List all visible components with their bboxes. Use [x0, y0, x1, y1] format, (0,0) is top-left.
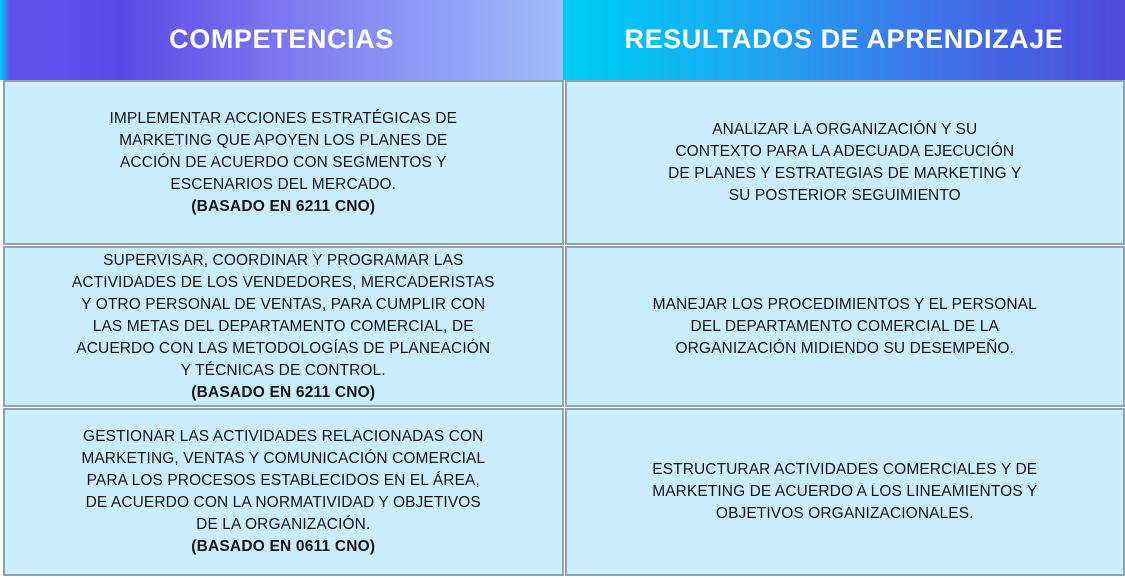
cell-resultado-1: ANALIZAR LA ORGANIZACIÓN Y SU CONTEXTO P…: [565, 80, 1125, 245]
resultado-text-3: ESTRUCTURAR ACTIVIDADES COMERCIALES Y DE…: [652, 459, 1037, 525]
cell-resultado-2: MANEJAR LOS PROCEDIMIENTOS Y EL PERSONAL…: [565, 246, 1125, 407]
header-title-competencias: COMPETENCIAS: [169, 25, 394, 55]
competencia-codigo-3: (BASADO EN 0611 CNO): [81, 536, 485, 558]
table-header-row: COMPETENCIAS RESULTADOS DE APRENDIZAJE: [0, 0, 1125, 80]
resultado-text-1: ANALIZAR LA ORGANIZACIÓN Y SU CONTEXTO P…: [668, 119, 1021, 207]
competencia-text-1: IMPLEMENTAR ACCIONES ESTRATÉGICAS DE MAR…: [109, 108, 457, 218]
header-title-resultados: RESULTADOS DE APRENDIZAJE: [624, 25, 1063, 55]
competencia-text-3: GESTIONAR LAS ACTIVIDADES RELACIONADAS C…: [81, 426, 485, 558]
cell-resultado-3: ESTRUCTURAR ACTIVIDADES COMERCIALES Y DE…: [565, 408, 1125, 576]
table-header-resultados: RESULTADOS DE APRENDIZAJE: [563, 0, 1125, 80]
competencia-body-3: GESTIONAR LAS ACTIVIDADES RELACIONADAS C…: [81, 428, 485, 533]
cell-competencia-1: IMPLEMENTAR ACCIONES ESTRATÉGICAS DE MAR…: [3, 80, 564, 245]
cell-competencia-3: GESTIONAR LAS ACTIVIDADES RELACIONADAS C…: [3, 408, 564, 576]
table-header-competencias: COMPETENCIAS: [0, 0, 563, 80]
competencia-body-2: SUPERVISAR, COORDINAR Y PROGRAMAR LAS AC…: [72, 252, 495, 379]
table-row: SUPERVISAR, COORDINAR Y PROGRAMAR LAS AC…: [3, 246, 1125, 407]
competencia-codigo-2: (BASADO EN 6211 CNO): [72, 382, 495, 404]
resultado-body-2: MANEJAR LOS PROCEDIMIENTOS Y EL PERSONAL…: [653, 296, 1037, 357]
resultado-text-2: MANEJAR LOS PROCEDIMIENTOS Y EL PERSONAL…: [653, 294, 1037, 360]
table-body: IMPLEMENTAR ACCIONES ESTRATÉGICAS DE MAR…: [0, 80, 1125, 578]
competencia-text-2: SUPERVISAR, COORDINAR Y PROGRAMAR LAS AC…: [72, 250, 495, 404]
cell-competencia-2: SUPERVISAR, COORDINAR Y PROGRAMAR LAS AC…: [3, 246, 564, 407]
resultado-body-3: ESTRUCTURAR ACTIVIDADES COMERCIALES Y DE…: [652, 461, 1037, 522]
competencia-body-1: IMPLEMENTAR ACCIONES ESTRATÉGICAS DE MAR…: [109, 110, 457, 193]
table-row: IMPLEMENTAR ACCIONES ESTRATÉGICAS DE MAR…: [3, 80, 1125, 245]
competencia-codigo-1: (BASADO EN 6211 CNO): [109, 196, 457, 218]
resultado-body-1: ANALIZAR LA ORGANIZACIÓN Y SU CONTEXTO P…: [668, 121, 1021, 204]
table-row: GESTIONAR LAS ACTIVIDADES RELACIONADAS C…: [3, 408, 1125, 576]
competency-outcomes-table: COMPETENCIAS RESULTADOS DE APRENDIZAJE I…: [0, 0, 1125, 578]
